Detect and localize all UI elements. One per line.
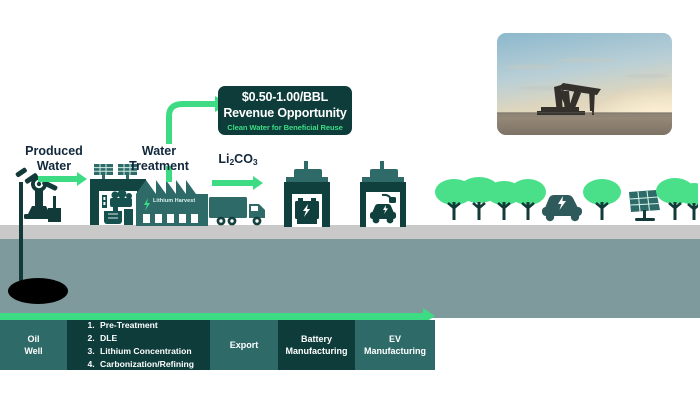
li2co3-sub-3: 3: [253, 157, 258, 167]
water-treatment-line1: Water: [117, 144, 201, 159]
li2co3-label: Li2CO3: [203, 152, 273, 167]
produced-water-label: Produced Water: [12, 144, 96, 175]
battery-factory-icon: [280, 161, 334, 227]
subsurface-layer: [0, 236, 700, 318]
treatment-step-2: DLE: [97, 332, 194, 345]
callout-subtext: Clean Water for Beneficial Reuse: [218, 123, 352, 132]
li2co3-arrow: [212, 180, 254, 186]
li2co3-co: CO: [234, 152, 253, 166]
produced-water-arrow: [38, 176, 78, 182]
treatment-step-4: Carbonization/Refining: [97, 358, 194, 371]
treatment-step-1: Pre-Treatment: [97, 319, 194, 332]
ev-factory-icon: [356, 161, 410, 227]
callout-price: $0.50-1.00/BBL: [218, 90, 352, 106]
produced-water-line1: Produced: [12, 144, 96, 159]
segment-battery-line2: Manufacturing: [286, 345, 348, 357]
segment-ev-line1: EV: [364, 333, 426, 345]
process-segment-battery-manufacturing[interactable]: Battery Manufacturing: [278, 320, 355, 370]
segment-export-label: Export: [230, 339, 259, 351]
segment-ev-line2: Manufacturing: [364, 345, 426, 357]
process-flow-arrow: [0, 313, 424, 320]
lithium-harvest-logo-text: Lithium Harvest: [153, 198, 195, 204]
callout-heading: Revenue Opportunity: [218, 106, 352, 122]
water-treatment-line2: Treatment: [117, 159, 201, 174]
tree-icon: [435, 177, 546, 205]
oil-pumpjack-sunset-photo: [497, 33, 672, 135]
solar-array-icon: [629, 190, 660, 221]
process-segment-treatment-steps[interactable]: Pre-Treatment DLE Lithium Concentration …: [67, 320, 210, 370]
oil-reservoir: [8, 278, 68, 304]
ev-car-icon: [542, 195, 582, 221]
treatment-step-3: Lithium Concentration: [97, 345, 194, 358]
li2co3-li: Li: [218, 152, 229, 166]
infographic-canvas: Produced Water: [0, 0, 700, 405]
segment-oil-well-line2: Well: [24, 345, 42, 357]
truck-icon: [209, 195, 272, 227]
process-segment-oil-well[interactable]: Oil Well: [0, 320, 67, 370]
treatment-steps-list: Pre-Treatment DLE Lithium Concentration …: [84, 319, 194, 371]
battery-icon: [295, 198, 319, 224]
segment-oil-well-line1: Oil: [24, 333, 42, 345]
revenue-opportunity-callout: $0.50-1.00/BBL Revenue Opportunity Clean…: [218, 86, 352, 135]
process-segment-ev-manufacturing[interactable]: EV Manufacturing: [355, 320, 435, 370]
process-segment-export[interactable]: Export: [210, 320, 278, 370]
segment-battery-line1: Battery: [286, 333, 348, 345]
landscape-icons-group: [432, 176, 698, 228]
process-bar: Oil Well Pre-Treatment DLE Lithium Conce…: [0, 320, 435, 370]
water-treatment-label: Water Treatment: [117, 144, 201, 175]
